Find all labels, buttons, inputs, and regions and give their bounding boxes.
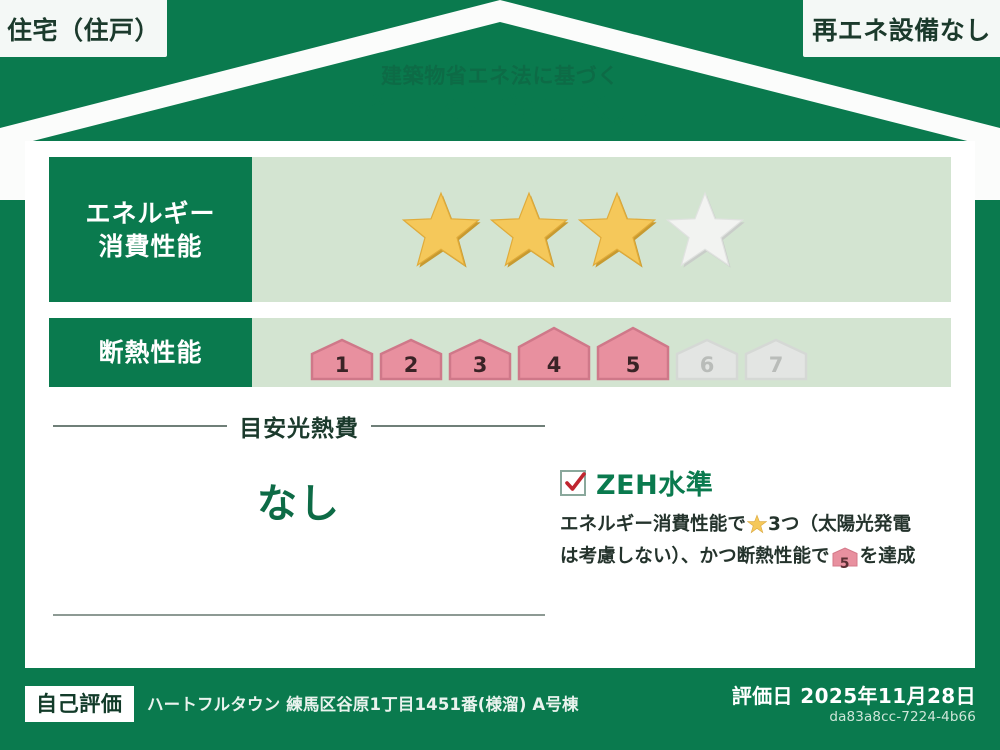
- insulation-level: 3: [447, 337, 513, 381]
- label-panel: エネルギー 消費性能 断熱性能 1234567 目安光熱費 なし: [25, 141, 975, 668]
- row-energy-performance: エネルギー 消費性能: [49, 157, 951, 302]
- insulation-level: 5: [595, 325, 671, 381]
- house-empty-icon: [743, 337, 809, 381]
- evaluation-date: 評価日 2025年11月28日: [732, 680, 976, 709]
- row-insulation-performance: 断熱性能 1234567: [49, 318, 951, 387]
- zeh-desc-part3: は考慮しない）、かつ断熱性能で: [560, 546, 830, 567]
- evaluation-id: da83a8cc-7224-4b66: [829, 709, 976, 725]
- inline-house-badge: 5: [832, 547, 858, 576]
- energy-performance-label: 住宅（住戸） 再エネ設備なし 建築物省エネ法に基づく 省エネ性能ラベル エネルギ…: [0, 0, 1000, 750]
- star-empty-icon: [664, 190, 746, 270]
- zeh-title: ZEH水準: [596, 463, 713, 502]
- zeh-desc-part2: 3つ（太陽光発電: [768, 514, 911, 535]
- star-filled-icon: [576, 190, 658, 270]
- self-evaluation-badge: 自己評価: [25, 686, 134, 722]
- house-filled-icon: [378, 337, 444, 381]
- inline-star-icon: [747, 514, 767, 543]
- property-name: ハートフルタウン 練馬区谷原1丁目1451番(様溜) A号棟: [147, 691, 579, 715]
- tag-renewable-energy-label: 再エネ設備なし: [812, 11, 991, 47]
- row-insulation-value: 1234567: [252, 318, 951, 387]
- row-energy-value: [252, 157, 951, 302]
- insulation-level: 4: [516, 325, 592, 381]
- zeh-block: ZEH水準 エネルギー消費性能で 3つ（太陽光発電 は考慮しない）、かつ断熱性能…: [560, 463, 960, 576]
- insulation-level: 7: [743, 337, 809, 381]
- evaluation-date-value: 2025年11月28日: [800, 684, 976, 708]
- row-insulation-label-text: 断熱性能: [98, 336, 202, 369]
- utility-cost-title: 目安光熱費: [239, 409, 359, 443]
- row-energy-label: エネルギー 消費性能: [49, 157, 252, 302]
- house-empty-icon: [674, 337, 740, 381]
- insulation-scale: 1234567: [309, 325, 809, 381]
- house-filled-icon: [309, 337, 375, 381]
- tag-building-type-label: 住宅（住戸）: [7, 11, 160, 47]
- checkbox-icon[interactable]: [560, 470, 586, 496]
- zeh-description: エネルギー消費性能で 3つ（太陽光発電 は考慮しない）、かつ断熱性能で 5を達成: [560, 511, 960, 576]
- label-footer: 自己評価 ハートフルタウン 練馬区谷原1丁目1451番(様溜) A号棟 評価日 …: [0, 668, 1000, 750]
- utility-cost-header: 目安光熱費: [53, 409, 545, 443]
- insulation-level: 6: [674, 337, 740, 381]
- utility-cost-rule-bottom: [53, 614, 545, 616]
- inline-house-number: 5: [832, 554, 858, 575]
- utility-cost-value: なし: [53, 471, 545, 529]
- tag-renewable-energy: 再エネ設備なし: [803, 0, 1000, 57]
- star-icon: [747, 514, 767, 534]
- star-rating: [400, 190, 746, 270]
- tag-building-type: 住宅（住戸）: [0, 0, 167, 57]
- insulation-level: 1: [309, 337, 375, 381]
- utility-cost-rule-left: [53, 425, 227, 427]
- utility-cost-rule-right: [371, 425, 545, 427]
- row-insulation-label: 断熱性能: [49, 318, 252, 387]
- house-filled-icon: [595, 325, 671, 381]
- check-icon: [560, 468, 590, 498]
- star-filled-icon: [488, 190, 570, 270]
- row-energy-label-line1: エネルギー: [85, 197, 215, 230]
- row-energy-label-line2: 消費性能: [98, 230, 202, 263]
- house-filled-icon: [447, 337, 513, 381]
- evaluation-date-label: 評価日: [732, 684, 793, 708]
- house-filled-icon: [516, 325, 592, 381]
- zeh-desc-part4: を達成: [860, 546, 916, 567]
- star-filled-icon: [400, 190, 482, 270]
- zeh-desc-part1: エネルギー消費性能で: [560, 514, 746, 535]
- zeh-header: ZEH水準: [560, 463, 960, 502]
- insulation-level: 2: [378, 337, 444, 381]
